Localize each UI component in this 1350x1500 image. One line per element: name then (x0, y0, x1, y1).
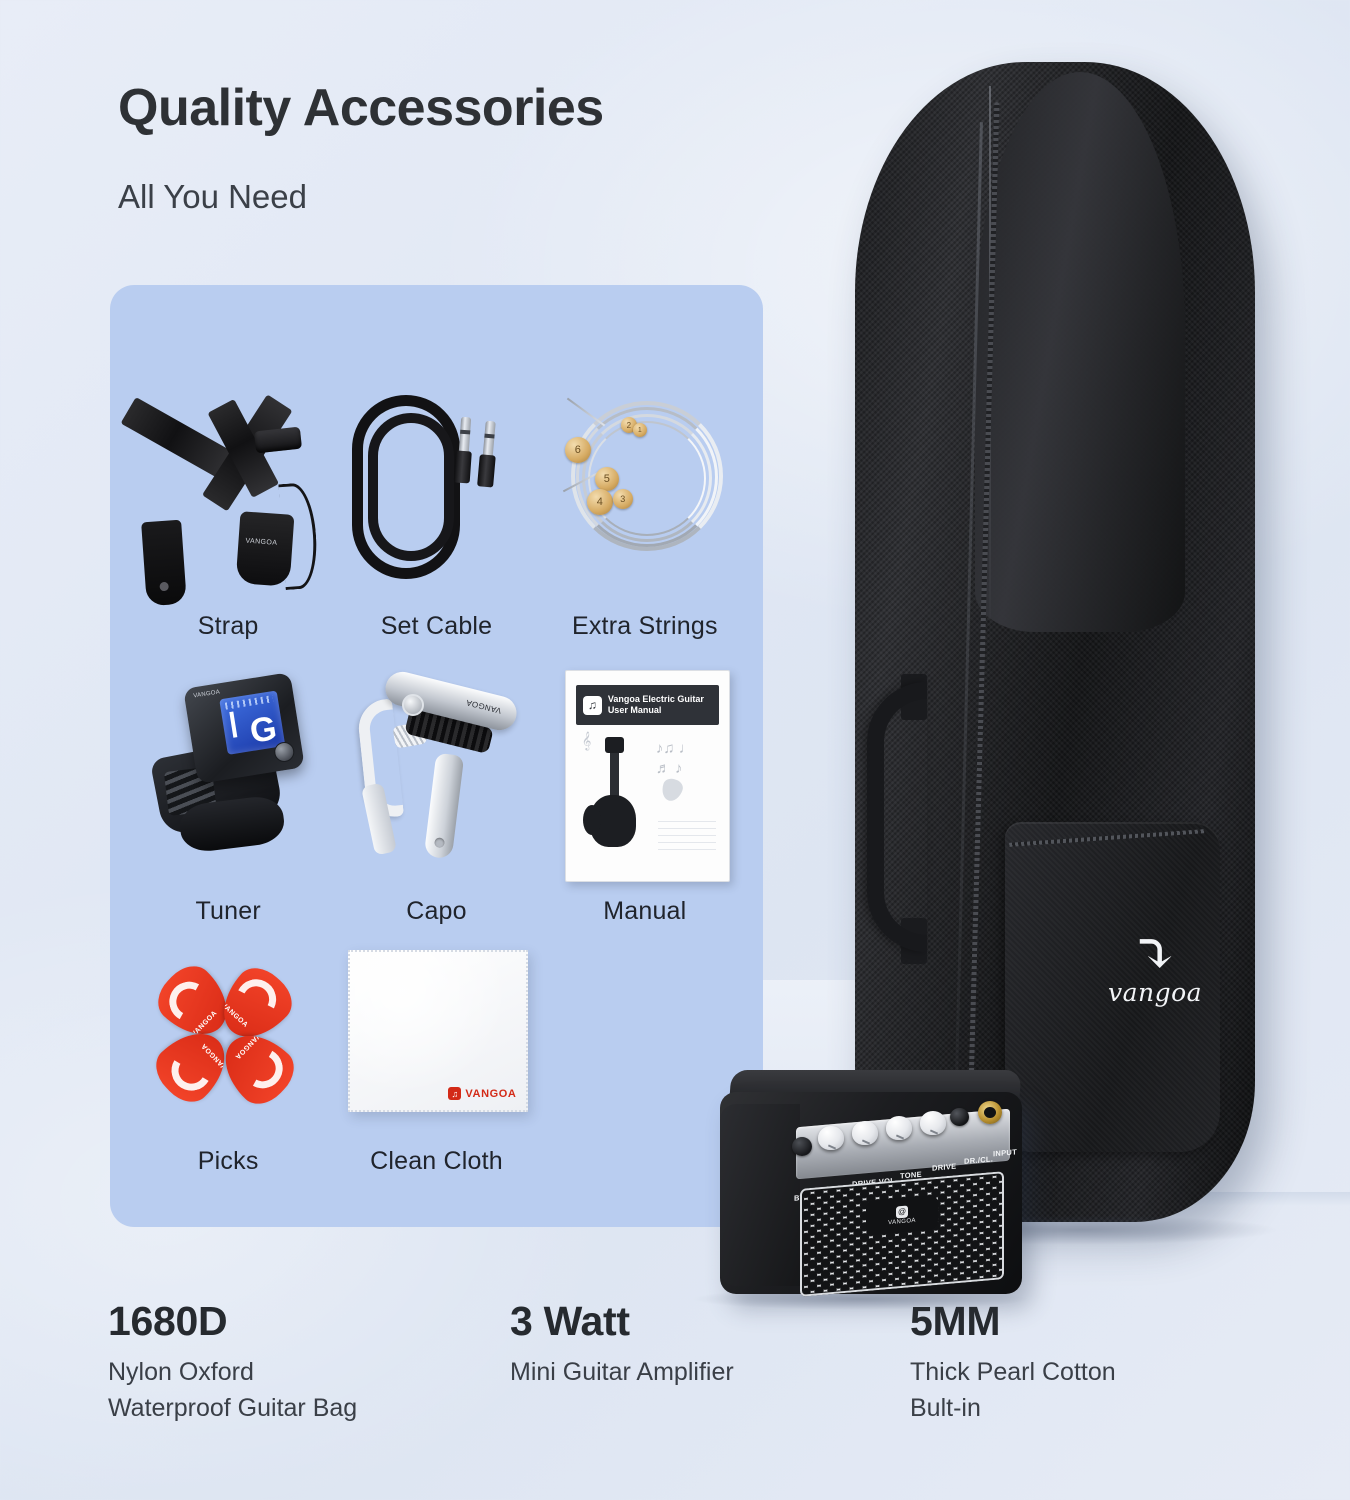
manual-art: ♫ Vangoa Electric Guitar User Manual 𝄞 ♪… (545, 668, 745, 883)
amplifier-speaker-grille: @ VANGOA (800, 1171, 1004, 1297)
cleaning-cloth-icon: ♫ VANGOA (348, 950, 528, 1112)
product-feature-page: Quality Accessories All You Need VANGOA (0, 0, 1350, 1500)
vangoa-logo-icon: @ (896, 1205, 908, 1218)
page-subtitle: All You Need (118, 178, 307, 216)
tuner-power-button[interactable] (273, 741, 296, 764)
manual-title-text: Vangoa Electric Guitar User Manual (608, 694, 712, 717)
vangoa-logo-icon: ♫ (583, 696, 602, 715)
feature-headline: 5MM (910, 1298, 1116, 1345)
cloth-brand-logo: ♫ VANGOA (448, 1087, 516, 1100)
plug-body (454, 450, 472, 483)
feature-description: Mini Guitar Amplifier (510, 1355, 734, 1391)
accessory-label-capo: Capo (406, 897, 467, 926)
gig-bag-brand-logo: ⤵ vangoa (1085, 930, 1225, 1007)
tuner-note-value: G (248, 711, 279, 749)
manual-cover: ♫ Vangoa Electric Guitar User Manual 𝄞 ♪… (565, 670, 730, 882)
amplifier-label-input: INPUT (993, 1147, 1017, 1158)
amplifier-input-jack[interactable] (978, 1101, 1002, 1124)
guitar-headstock (605, 737, 624, 753)
amplifier-side-face (720, 1104, 800, 1286)
accessory-label-clean-cloth: Clean Cloth (370, 1147, 503, 1176)
accessory-label-set-cable: Set Cable (381, 612, 493, 641)
feature-block-padding: 5MM Thick Pearl Cotton Bult-in (910, 1298, 1116, 1426)
feature-description-line1: Nylon Oxford (108, 1355, 357, 1391)
accessories-grid: VANGOA Strap (110, 285, 763, 1227)
amplifier-knob-drive-vol[interactable] (852, 1121, 878, 1145)
guitar-strings-icon: 6 5 4 3 2 1 (559, 393, 739, 593)
string-tail (567, 398, 605, 427)
strap-brand-label: VANGOA (245, 538, 277, 547)
capo-handle (424, 753, 464, 860)
tuner-art: VANGOA G (128, 668, 328, 883)
feature-description-line1: Mini Guitar Amplifier (510, 1355, 734, 1391)
amplifier-knob-tone[interactable] (886, 1116, 912, 1140)
amplifier-brand-label: VANGOA (888, 1217, 916, 1225)
plug-body (478, 454, 497, 487)
strap-leather-end (141, 520, 187, 607)
tuner-body: VANGOA G (183, 672, 305, 784)
capo-brand-label: VANGOA (466, 698, 503, 715)
accessory-label-tuner: Tuner (195, 897, 260, 926)
amplifier-bt-button[interactable] (792, 1137, 812, 1156)
feature-description-line1: Thick Pearl Cotton (910, 1355, 1116, 1391)
string-ball-end: 3 (613, 489, 633, 509)
feature-description-line2: Waterproof Guitar Bag (108, 1391, 357, 1427)
instrument-cable-icon (348, 391, 528, 596)
accessory-label-manual: Manual (603, 897, 686, 926)
guitar-strap-icon: VANGOA (142, 391, 322, 596)
clip-on-tuner-icon: VANGOA G (150, 674, 320, 879)
feature-description: Thick Pearl Cotton Bult-in (910, 1355, 1116, 1426)
cable-art (336, 383, 536, 598)
accessory-item-picks: VANGOA VANGOA VANGOA VANGOA (124, 926, 332, 1176)
cloth-art: ♫ VANGOA (336, 926, 536, 1133)
picks-art: VANGOA VANGOA VANGOA VANGOA (128, 926, 328, 1133)
accessories-panel: VANGOA Strap (110, 285, 763, 1227)
mini-amplifier-product-image: BT MASTER DRIVE VOL. TONE DRIVE DR./CL. … (712, 1070, 1032, 1305)
strap-buckle-icon (254, 427, 302, 454)
strap-brand-tab: VANGOA (236, 511, 295, 587)
strap-art: VANGOA (128, 383, 328, 598)
amplifier-brand-badge: @ VANGOA (866, 1195, 938, 1235)
string-ball-end: 1 (633, 423, 647, 437)
capo-art: VANGOA (336, 668, 536, 883)
cloth-brand-label: VANGOA (465, 1088, 516, 1100)
string-ball-end: 6 (565, 437, 591, 463)
amplifier-switch-dr-cl[interactable] (950, 1108, 969, 1126)
accessory-item-capo: VANGOA Capo (332, 641, 540, 926)
amplifier-knob-master[interactable] (818, 1126, 844, 1150)
accessory-label-strap: Strap (198, 612, 259, 641)
feature-description: Nylon Oxford Waterproof Guitar Bag (108, 1355, 357, 1426)
accessory-item-set-cable: Set Cable (332, 311, 540, 641)
feature-block-amp: 3 Watt Mini Guitar Amplifier (510, 1298, 734, 1391)
cloth-surface: ♫ VANGOA (348, 950, 528, 1112)
vangoa-clef-icon: ⤵ (1085, 930, 1225, 980)
accessory-item-strap: VANGOA Strap (124, 311, 332, 641)
page-title: Quality Accessories (118, 78, 604, 138)
string-ball-end: 5 (595, 467, 619, 491)
amplifier-label-dr-cl: DR./CL. (964, 1154, 993, 1166)
tuner-brand-label: VANGOA (193, 689, 221, 699)
accessory-item-clean-cloth: ♫ VANGOA Clean Cloth (332, 926, 540, 1176)
cable-plug-icon (478, 420, 500, 485)
gig-bag-pocket-zipper (1009, 829, 1205, 847)
accessory-label-extra-strings: Extra Strings (572, 612, 718, 641)
feature-description-line2: Bult-in (910, 1391, 1116, 1427)
accessory-label-picks: Picks (198, 1147, 259, 1176)
tuner-needle (229, 711, 237, 737)
user-manual-icon: ♫ Vangoa Electric Guitar User Manual 𝄞 ♪… (565, 670, 730, 882)
cable-coil-inner (368, 413, 454, 561)
feature-headline: 3 Watt (510, 1298, 734, 1345)
strings-art: 6 5 4 3 2 1 (545, 383, 745, 598)
gig-bag-carry-handle (867, 682, 927, 952)
cable-plug-icon (454, 417, 474, 482)
vangoa-logo-icon: ♫ (448, 1087, 461, 1100)
tuner-scale-ticks (225, 695, 274, 709)
accessory-item-tuner: VANGOA G Tuner (124, 641, 332, 926)
feature-block-bag: 1680D Nylon Oxford Waterproof Guitar Bag (108, 1298, 357, 1426)
amplifier-knob-drive[interactable] (920, 1111, 946, 1135)
guitar-capo-icon: VANGOA (354, 672, 534, 882)
manual-title-bar: ♫ Vangoa Electric Guitar User Manual (576, 685, 719, 725)
manual-text-lines (658, 821, 716, 855)
gig-bag-neck-section (975, 72, 1185, 632)
guitar-illustration-icon (584, 743, 648, 851)
guitar-body (590, 795, 636, 847)
feature-headline: 1680D (108, 1298, 357, 1345)
accessory-item-extra-strings: 6 5 4 3 2 1 Extra Strings (541, 311, 749, 641)
guitar-picks-icon: VANGOA VANGOA VANGOA VANGOA (162, 968, 302, 1108)
string-ball-end: 4 (587, 489, 613, 515)
accessory-item-manual: ♫ Vangoa Electric Guitar User Manual 𝄞 ♪… (541, 641, 749, 926)
gig-bag-brand-wordmark: vangoa (1085, 978, 1225, 1007)
amplifier-label-drive: DRIVE (932, 1162, 956, 1173)
feature-highlights: 1680D Nylon Oxford Waterproof Guitar Bag… (0, 1298, 1350, 1483)
